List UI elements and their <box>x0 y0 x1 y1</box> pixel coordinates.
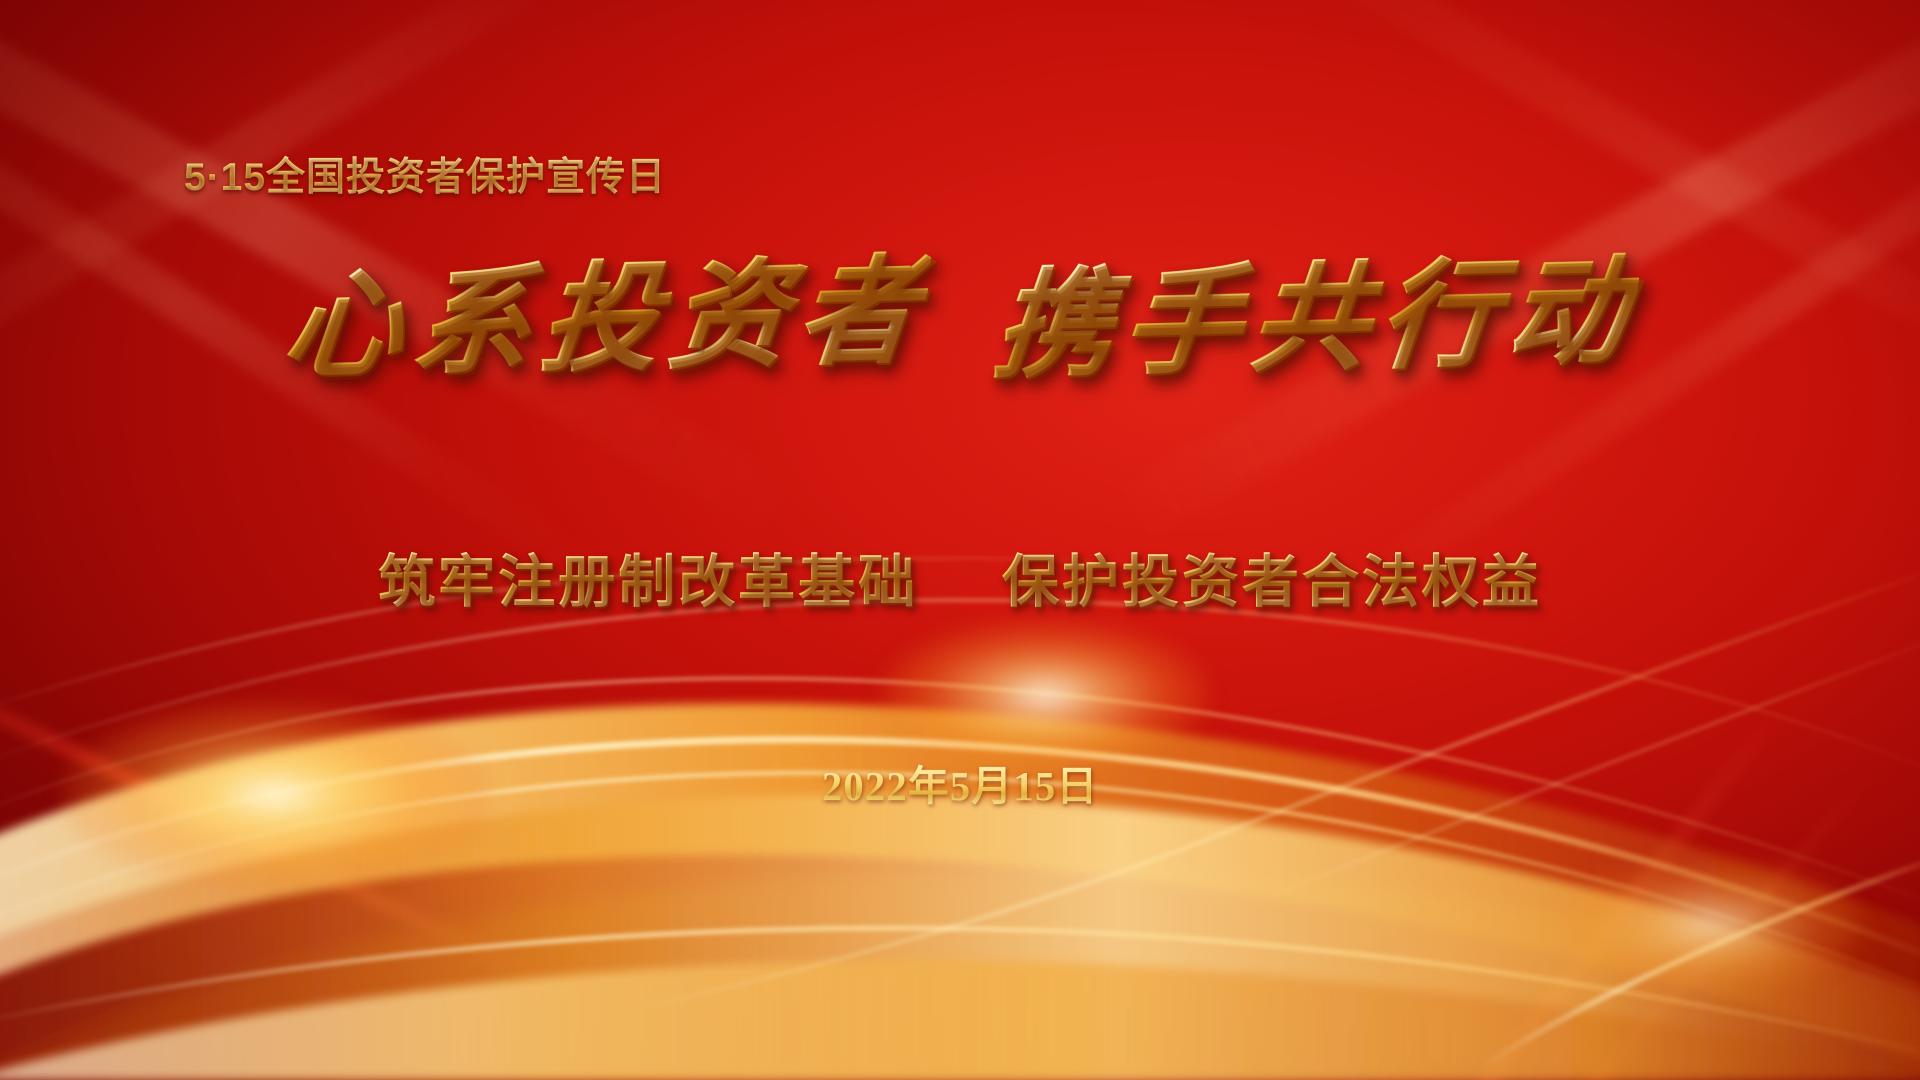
event-header-label: 5·15全国投资者保护宣传日 <box>184 146 666 202</box>
banner-poster: 5·15全国投资者保护宣传日 心系投资者 携手共行动 筑牢注册制改革基础 保护投… <box>0 0 1920 1080</box>
slogan-part-1: 筑牢注册制改革基础 <box>378 550 918 614</box>
main-title-part-1: 心系投资者 <box>277 244 932 392</box>
slogan-line: 筑牢注册制改革基础 保护投资者合法权益 <box>0 536 1920 618</box>
main-title: 心系投资者 携手共行动 <box>0 252 1920 384</box>
main-title-part-2: 携手共行动 <box>988 244 1643 392</box>
event-date-label: 2022年5月15日 <box>0 752 1920 812</box>
slogan-part-2: 保护投资者合法权益 <box>1002 550 1542 614</box>
